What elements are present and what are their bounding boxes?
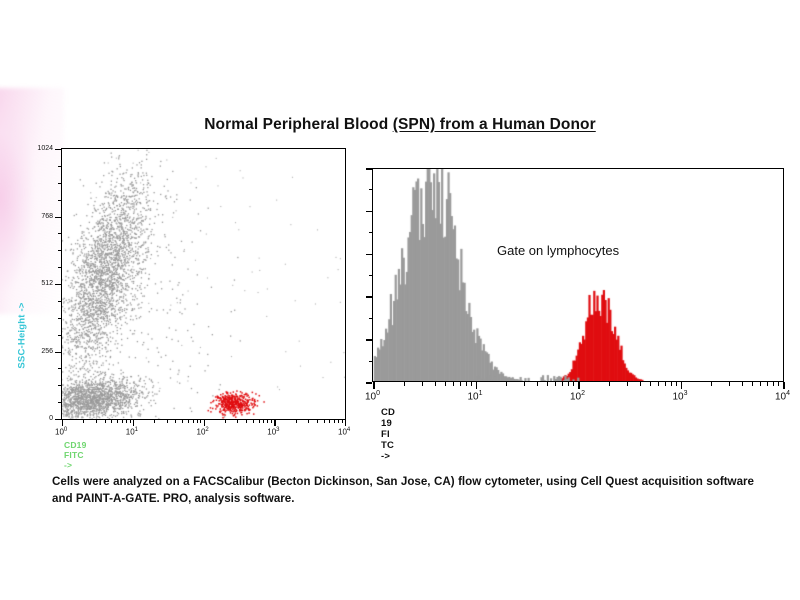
scatter-x-minor-tick	[175, 420, 176, 423]
histogram-x-minor-tick	[573, 382, 574, 386]
scatter-y-minor-tick	[58, 335, 61, 336]
histogram-x-minor-tick	[422, 382, 423, 386]
figure-caption: Cells were analyzed on a FACSCalibur (Be…	[52, 474, 754, 508]
histogram-x-minor-tick	[658, 382, 659, 386]
scatter-y-minor-tick	[58, 385, 61, 386]
histogram-x-minor-tick	[445, 382, 446, 386]
scatter-x-minor-tick	[117, 420, 118, 423]
scatter-y-minor-tick	[58, 402, 61, 403]
scatter-x-minor-tick	[329, 420, 330, 423]
histogram-x-minor-tick	[555, 382, 556, 386]
histogram-x-minor-tick	[466, 382, 467, 386]
histogram-x-minor-tick	[640, 382, 641, 386]
histogram-x-minor-tick	[460, 382, 461, 386]
histogram-x-minor-tick	[453, 382, 454, 386]
scatter-plot-canvas	[62, 149, 345, 419]
histogram-x-tick-label: 104	[775, 390, 790, 402]
scatter-x-minor-tick	[267, 420, 268, 423]
scatter-x-minor-tick	[246, 420, 247, 423]
scatter-y-tick-label: 512	[27, 280, 53, 287]
histogram-y-major-tick	[366, 211, 372, 213]
histogram-y-major-tick	[366, 254, 372, 256]
histogram-x-minor-tick	[506, 382, 507, 386]
scatter-x-major-tick	[62, 420, 63, 426]
histogram-y-major-tick	[366, 339, 372, 341]
histogram-x-minor-tick	[547, 382, 548, 386]
scatter-x-minor-tick	[308, 420, 309, 423]
histogram-x-major-tick	[681, 382, 683, 389]
scatter-x-major-tick	[204, 420, 205, 426]
histogram-x-minor-tick	[729, 382, 730, 386]
histogram-x-minor-tick	[650, 382, 651, 386]
scatter-y-tick-label: 768	[27, 213, 53, 220]
scatter-x-minor-tick	[259, 420, 260, 423]
scatter-y-major-tick	[55, 419, 61, 420]
scatter-y-tick-label: 256	[27, 348, 53, 355]
scatter-x-minor-tick	[317, 420, 318, 423]
scatter-x-minor-tick	[105, 420, 106, 423]
histogram-x-major-tick	[578, 382, 580, 389]
histogram-x-tick-label: 101	[468, 390, 483, 402]
figure-root: Normal Peripheral Blood (SPN) from a Hum…	[0, 0, 800, 600]
scatter-x-minor-tick	[342, 420, 343, 423]
scatter-x-minor-tick	[338, 420, 339, 423]
histogram-x-minor-tick	[627, 382, 628, 386]
scatter-x-minor-tick	[253, 420, 254, 423]
scatter-y-major-tick	[55, 217, 61, 218]
histogram-x-major-tick	[373, 382, 375, 389]
histogram-x-minor-tick	[671, 382, 672, 386]
histogram-x-tick-label: 102	[570, 390, 585, 402]
figure-title-underlined: (SPN) from a Human Donor	[393, 116, 596, 133]
scatter-x-major-tick	[274, 420, 275, 426]
scatter-x-minor-tick	[83, 420, 84, 423]
histogram-annotation: Gate on lymphocytes	[497, 243, 619, 258]
scatter-y-major-tick	[55, 352, 61, 353]
scatter-x-minor-tick	[182, 420, 183, 423]
histogram-x-minor-tick	[767, 382, 768, 386]
scatter-y-minor-tick	[58, 166, 61, 167]
scatter-y-major-tick	[55, 284, 61, 285]
histogram-x-major-tick	[783, 382, 785, 389]
histogram-x-major-tick	[476, 382, 478, 389]
scatter-y-minor-tick	[58, 250, 61, 251]
histogram-x-minor-tick	[778, 382, 779, 386]
scatter-x-minor-tick	[263, 420, 264, 423]
scatter-x-minor-tick	[271, 420, 272, 423]
scatter-x-minor-tick	[154, 420, 155, 423]
scatter-x-minor-tick	[225, 420, 226, 423]
histogram-y-minor-tick	[369, 189, 373, 190]
scatter-y-tick-label: 0	[27, 415, 53, 422]
scatter-y-minor-tick	[58, 233, 61, 234]
scatter-x-tick-label: 104	[338, 427, 350, 437]
scatter-x-minor-tick	[188, 420, 189, 423]
histogram-x-minor-tick	[676, 382, 677, 386]
scatter-y-tick-label: 1024	[27, 145, 53, 152]
histogram-x-minor-tick	[404, 382, 405, 386]
histogram-x-minor-tick	[471, 382, 472, 386]
scatter-x-tick-label: 101	[126, 427, 138, 437]
histogram-x-minor-tick	[435, 382, 436, 386]
scatter-x-minor-tick	[237, 420, 238, 423]
scatter-y-minor-tick	[58, 183, 61, 184]
scatter-x-tick-label: 102	[197, 427, 209, 437]
scatter-x-tick-label: 100	[55, 427, 67, 437]
histogram-x-minor-tick	[752, 382, 753, 386]
histogram-x-minor-tick	[524, 382, 525, 386]
histogram-y-major-tick	[366, 168, 372, 170]
histogram-y-major-tick	[366, 382, 372, 384]
scatter-y-minor-tick	[58, 267, 61, 268]
scatter-x-minor-tick	[324, 420, 325, 423]
scatter-x-axis-label: CD19 FITC ->	[64, 440, 87, 470]
scatter-y-axis-label: SSC-Height ->	[17, 288, 28, 384]
histogram-y-minor-tick	[369, 318, 373, 319]
scatter-y-minor-tick	[58, 200, 61, 201]
histogram-x-minor-tick	[537, 382, 538, 386]
scatter-x-major-tick	[345, 420, 346, 426]
histogram-x-minor-tick	[562, 382, 563, 386]
scatter-x-minor-tick	[111, 420, 112, 423]
figure-title: Normal Peripheral Blood (SPN) from a Hum…	[0, 116, 800, 134]
scatter-x-minor-tick	[197, 420, 198, 423]
histogram-x-minor-tick	[760, 382, 761, 386]
scatter-y-minor-tick	[58, 301, 61, 302]
histogram-x-minor-tick	[609, 382, 610, 386]
histogram-y-minor-tick	[369, 361, 373, 362]
histogram-x-minor-tick	[742, 382, 743, 386]
histogram-canvas	[373, 169, 783, 381]
scatter-x-tick-label: 103	[267, 427, 279, 437]
histogram-y-minor-tick	[369, 232, 373, 233]
histogram-x-minor-tick	[711, 382, 712, 386]
scatter-x-minor-tick	[126, 420, 127, 423]
figure-title-prefix: Normal Peripheral Blood	[204, 116, 392, 133]
scatter-x-minor-tick	[130, 420, 131, 423]
scatter-x-minor-tick	[122, 420, 123, 423]
scatter-x-minor-tick	[96, 420, 97, 423]
histogram-x-tick-label: 103	[673, 390, 688, 402]
scatter-x-major-tick	[133, 420, 134, 426]
scatter-y-minor-tick	[58, 318, 61, 319]
histogram-x-minor-tick	[665, 382, 666, 386]
scatter-y-major-tick	[55, 149, 61, 150]
scatter-x-minor-tick	[334, 420, 335, 423]
histogram-x-minor-tick	[773, 382, 774, 386]
histogram-x-axis-label: CD 19 FI TC ->	[381, 407, 395, 462]
histogram-x-minor-tick	[568, 382, 569, 386]
scatter-x-minor-tick	[200, 420, 201, 423]
scatter-y-minor-tick	[58, 368, 61, 369]
histogram-y-minor-tick	[369, 275, 373, 276]
scatter-x-minor-tick	[193, 420, 194, 423]
histogram-x-tick-label: 100	[365, 390, 380, 402]
histogram-y-major-tick	[366, 296, 372, 298]
scatter-x-minor-tick	[167, 420, 168, 423]
scatter-x-minor-tick	[296, 420, 297, 423]
